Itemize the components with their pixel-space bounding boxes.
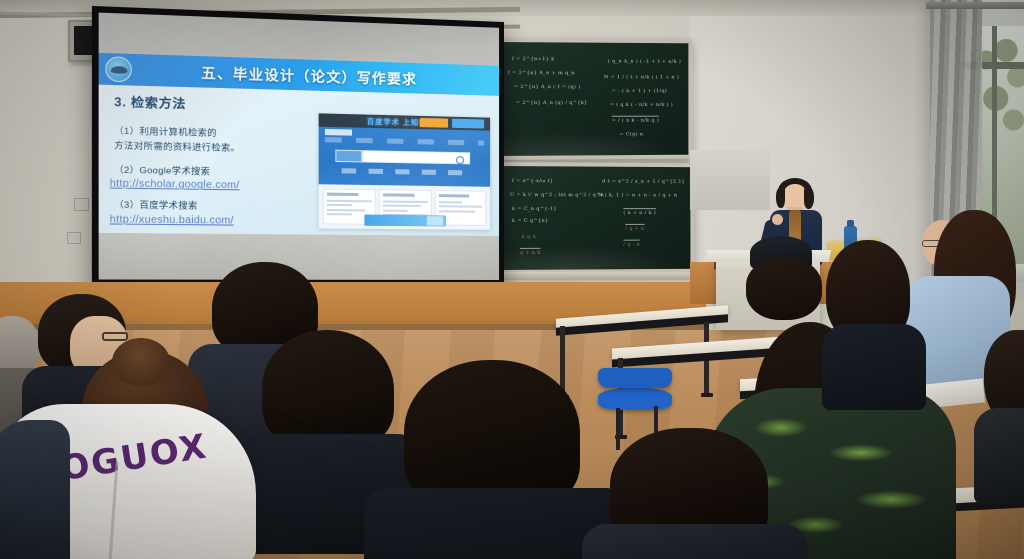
student-hair-bun [112, 338, 170, 386]
screenshot-hero [319, 127, 490, 187]
student-jacket [582, 524, 808, 559]
presentation-slide: 五、毕业设计（论文）写作要求 3. 检索方法 （1）利用计算机检索的 方法对所需… [99, 53, 499, 236]
student-left-edge-arm [0, 420, 68, 559]
classroom-photo-scene: f = 2^{n+1} k f = 2^{n} A_n + m q_n = 2^… [0, 0, 1024, 559]
student-head [746, 258, 822, 320]
chalk-tray [496, 272, 696, 280]
chalk-line: f = 2^{n} A_n + m q_n [508, 70, 575, 78]
chalk-line: = - ( n + 1 ) + (1/q) [612, 88, 667, 96]
slide-bullet-1-line-1: （1）利用计算机检索的 [114, 124, 308, 141]
chalk-line: = 2^{n} A_n ( f = (q) ) [514, 84, 581, 92]
baidu-scholar-screenshot: 百度学术 上知乎问学 [319, 113, 490, 230]
slide-bullet-1-line-2: 方法对所需的资料进行检索。 [114, 139, 308, 156]
slide-bullet-3: （3）百度学术搜索 [114, 199, 308, 214]
screenshot-card-row [319, 184, 490, 230]
lecturer-hair-right [804, 188, 814, 209]
student-tall-center-right [380, 360, 610, 559]
baidu-scholar-link[interactable]: http://xueshu.baidu.com/ [110, 214, 308, 227]
curtain-rod [926, 2, 1024, 9]
screenshot-secondary-button [452, 119, 484, 129]
lower-blackboard: f = e^{-x/ω t} U = k t' w q^2 ; lnt m q^… [496, 162, 694, 274]
wall-power-outlet-lower[interactable] [67, 232, 81, 244]
screenshot-search-row [335, 150, 470, 165]
wall-power-outlet[interactable] [74, 198, 89, 211]
slide-text-block: （1）利用计算机检索的 方法对所需的资料进行检索。 （2）Google学术搜索 … [114, 124, 308, 227]
slide-body: 3. 检索方法 （1）利用计算机检索的 方法对所需的资料进行检索。 （2）Goo… [99, 85, 499, 236]
chalk-line: N = 1 / ( t + n/k ) ( 1 + n ) [604, 74, 679, 82]
chalk-line: ( q_n A_n ) ( -1 + t + n/k ) [608, 59, 681, 67]
student-jacket [822, 324, 926, 410]
lecturer-hand [772, 214, 783, 225]
chalk-line: = 2^{n} A_n (q) / q^{k} [516, 100, 588, 108]
screenshot-search-input [362, 150, 470, 164]
student-glasses-icon [102, 332, 128, 341]
screenshot-quick-tags [342, 168, 469, 175]
screenshot-search-scope [335, 150, 362, 163]
chalk-line-red: / q + n [625, 224, 644, 234]
chalk-line: d t = x^2 / x_n + 1 / q^{2,1} [602, 178, 685, 186]
projection-screen: 五、毕业设计（论文）写作要求 3. 检索方法 （1）利用计算机检索的 方法对所需… [92, 6, 504, 290]
chalk-line: k = C_n q^{-1} [512, 206, 557, 214]
screenshot-promo-banner [364, 215, 446, 227]
chalk-dust [498, 129, 688, 156]
student-right-edge [826, 240, 922, 400]
chalk-line: f = e^{-x/ω t} [512, 178, 554, 186]
tree-foliage-outside [976, 36, 1024, 156]
slide-bullet-2: （2）Google学术搜索 [114, 163, 308, 179]
student-hair [262, 330, 394, 450]
chalk-line: f = 2^{n+1} k [512, 56, 555, 64]
upper-blackboard: f = 2^{n+1} k f = 2^{n} A_n + m q_n = 2^… [494, 38, 692, 160]
university-emblem-icon [105, 56, 132, 82]
chalk-line: U = k t' w q^2 ; lnt m q^2 / q^n [510, 192, 604, 200]
chalk-line-red: k q n [522, 234, 536, 242]
chalk-dust [500, 243, 690, 270]
screenshot-nav [325, 137, 484, 145]
chalk-line: = ( q k ( - n/k + n/k ) ) [610, 102, 673, 110]
lecturer-hair-left [776, 188, 785, 208]
student-far-right-partial [978, 330, 1024, 490]
student-arm [0, 420, 70, 559]
student-right-of-hoodie [600, 428, 790, 559]
chalk-line: ( n + n / k ) [623, 208, 656, 218]
chalk-line: = / ( n k - n/k q ) [612, 116, 659, 126]
student-jacket [974, 408, 1024, 504]
screenshot-primary-button [420, 118, 448, 128]
chalk-line: k = C q^{n} [512, 218, 549, 226]
chalk-line: N ( k, 1 ) = n + n - u / q + n [598, 192, 677, 200]
screenshot-site-logo [325, 129, 352, 136]
